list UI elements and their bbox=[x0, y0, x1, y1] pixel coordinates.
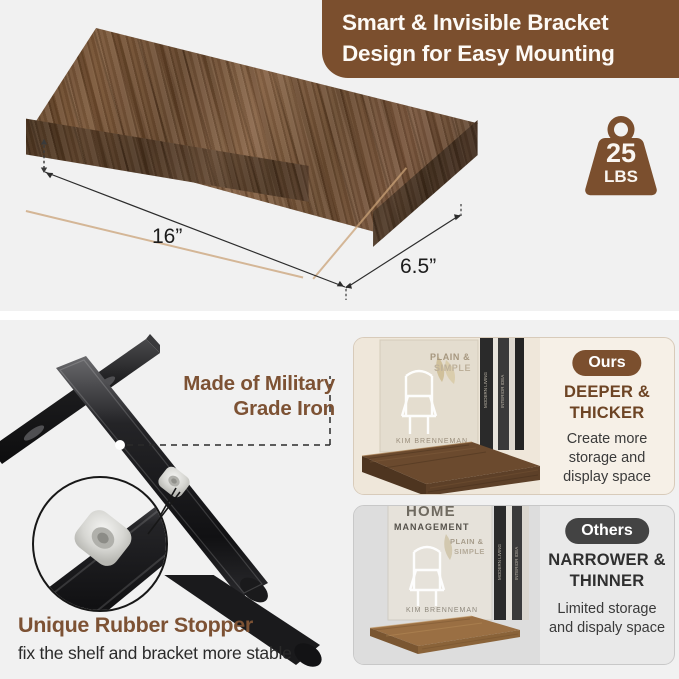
others-info: Others NARROWER & THINNER Limited storag… bbox=[540, 506, 674, 664]
ours-photo: PLAIN & SIMPLE KIM BRENNEMAN MODERN LIVI… bbox=[354, 338, 540, 494]
hero-section: 16” 6.5” Smart & Invisible Bracket Desig… bbox=[0, 0, 679, 311]
svg-text:INTERIOR IDEA: INTERIOR IDEA bbox=[500, 375, 505, 408]
weight-value: 25 bbox=[575, 140, 667, 167]
svg-text:MANAGEMENT: MANAGEMENT bbox=[394, 522, 470, 532]
others-heading: NARROWER & THINNER bbox=[540, 550, 674, 592]
svg-text:MODERN LIVING: MODERN LIVING bbox=[497, 543, 502, 580]
comparison-card-ours: PLAIN & SIMPLE KIM BRENNEMAN MODERN LIVI… bbox=[353, 337, 675, 495]
svg-text:MODERN LIVING: MODERN LIVING bbox=[483, 371, 488, 408]
military-grade-line1: Made of Military bbox=[120, 371, 335, 396]
header-title-line1: Smart & Invisible Bracket bbox=[342, 7, 663, 38]
svg-text:PLAIN &: PLAIN & bbox=[450, 537, 484, 546]
others-heading-line2: THINNER bbox=[540, 571, 674, 592]
header-banner: Smart & Invisible Bracket Design for Eas… bbox=[322, 0, 679, 78]
others-description: Limited storage and dispaly space bbox=[546, 600, 668, 638]
product-infographic: 16” 6.5” Smart & Invisible Bracket Desig… bbox=[0, 0, 679, 679]
ours-heading-line2: THICKER bbox=[540, 403, 674, 424]
length-dimension-label: 16” bbox=[152, 225, 182, 249]
ours-heading-line1: DEEPER & bbox=[540, 382, 674, 403]
thin-shelf-with-books-photo: HOME MANAGEMENT PLAIN & SIMPLE KIM BRENN… bbox=[354, 506, 540, 664]
ours-badge: Ours bbox=[572, 350, 641, 376]
ours-info: Ours DEEPER & THICKER Create more storag… bbox=[540, 338, 674, 494]
svg-text:HOME: HOME bbox=[406, 506, 456, 520]
comparison-card-others: HOME MANAGEMENT PLAIN & SIMPLE KIM BRENN… bbox=[353, 505, 675, 665]
ours-description: Create more storage and display space bbox=[546, 430, 668, 487]
ours-heading: DEEPER & THICKER bbox=[540, 382, 674, 424]
svg-text:KIM BRENNEMAN: KIM BRENNEMAN bbox=[406, 607, 478, 614]
svg-text:INTERIOR IDEA: INTERIOR IDEA bbox=[514, 547, 519, 580]
military-grade-title: Made of Military Grade Iron bbox=[120, 371, 335, 421]
others-heading-line1: NARROWER & bbox=[540, 550, 674, 571]
depth-dimension-label: 6.5” bbox=[400, 255, 436, 279]
military-grade-line2: Grade Iron bbox=[120, 396, 335, 421]
svg-text:SIMPLE: SIMPLE bbox=[434, 363, 471, 373]
svg-text:PLAIN &: PLAIN & bbox=[430, 352, 470, 362]
weight-capacity-badge: 25 LBS bbox=[575, 113, 667, 198]
rubber-stopper-subtitle: fix the shelf and bracket more stable bbox=[18, 643, 292, 664]
others-badge: Others bbox=[565, 518, 649, 544]
weight-unit: LBS bbox=[575, 168, 667, 185]
thick-shelf-with-books-photo: PLAIN & SIMPLE KIM BRENNEMAN MODERN LIVI… bbox=[354, 338, 540, 494]
header-title-line2: Design for Easy Mounting bbox=[342, 38, 663, 69]
svg-text:SIMPLE: SIMPLE bbox=[454, 547, 485, 556]
rubber-stopper-title: Unique Rubber Stopper bbox=[18, 613, 253, 638]
others-photo: HOME MANAGEMENT PLAIN & SIMPLE KIM BRENN… bbox=[354, 506, 540, 664]
